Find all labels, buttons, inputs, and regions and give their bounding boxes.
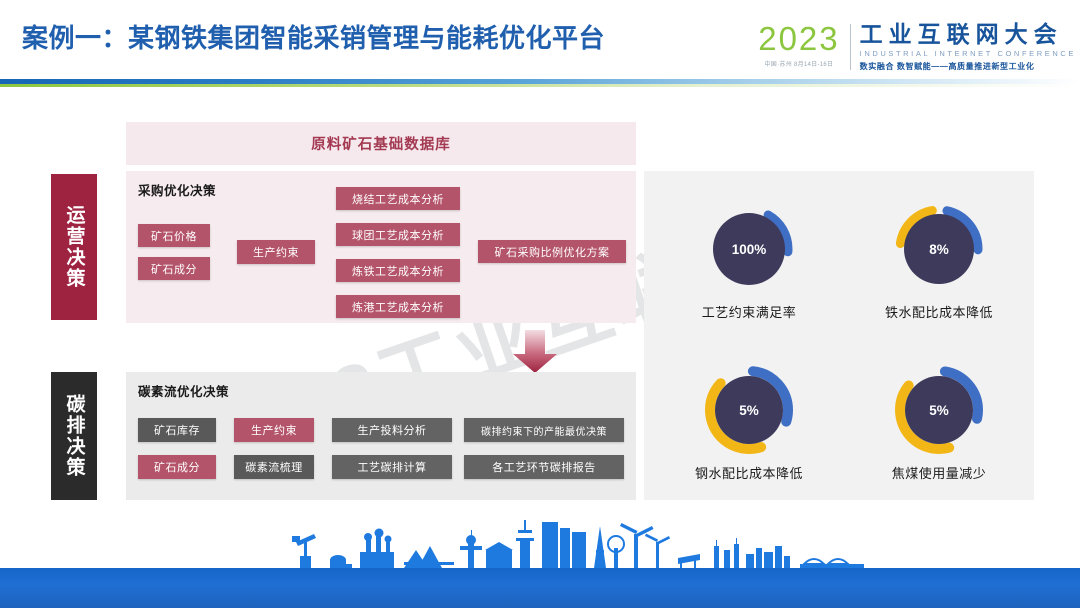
logo-slogan: 数实融合 数智赋能——高质量推进新型工业化 xyxy=(860,61,1076,72)
chip-steelmaking-cost-analysis[interactable]: 炼港工艺成本分析 xyxy=(336,295,460,318)
donut-value-text-3: 5% xyxy=(929,403,949,418)
procurement-optimization-panel: 采购优化决策 矿石价格 矿石成分 生产约束 烧结工艺成本分析 球团工艺成本分析 … xyxy=(126,171,636,323)
database-banner: 原料矿石基础数据库 xyxy=(126,122,636,165)
logo-divider xyxy=(850,24,851,70)
logo-text-block: 工业互联网大会 INDUSTRIAL INTERNET CONFERENCE 数… xyxy=(860,22,1076,72)
kpi-label-2: 钢水配比成本降低 xyxy=(664,464,834,483)
chip-process-carbon-report[interactable]: 各工艺环节碳排报告 xyxy=(464,455,624,479)
database-banner-label: 原料矿石基础数据库 xyxy=(311,133,451,154)
slide: 案例一：某钢铁集团智能采销管理与能耗优化平台 2023 中国·苏州 8月14日-… xyxy=(0,0,1080,608)
chip-pellet-cost-analysis[interactable]: 球团工艺成本分析 xyxy=(336,223,460,246)
kpi-card-3: 5% 焦煤使用量减少 xyxy=(854,364,1024,483)
logo-year-block: 2023 中国·苏州 8月14日-16日 xyxy=(758,22,849,68)
sidebar-item-operations[interactable]: 运营决策 xyxy=(51,174,97,320)
page-title: 案例一：某钢铁集团智能采销管理与能耗优化平台 xyxy=(22,18,605,55)
logo-name-en: INDUSTRIAL INTERNET CONFERENCE xyxy=(860,49,1076,58)
chip-ore-composition-carbon[interactable]: 矿石成分 xyxy=(138,455,216,479)
panel-title-carbon: 碳素流优化决策 xyxy=(138,381,229,400)
kpi-card-0: 100% 工艺约束满足率 xyxy=(664,203,834,322)
chip-ore-price[interactable]: 矿石价格 xyxy=(138,224,210,247)
donut-chart-0: 100% xyxy=(703,203,795,295)
chip-feedstock-analysis[interactable]: 生产投料分析 xyxy=(332,418,452,442)
donut-value-3: 5% xyxy=(893,364,985,456)
footer-blue-band xyxy=(0,568,1080,608)
conference-logo: 2023 中国·苏州 8月14日-16日 工业互联网大会 INDUSTRIAL … xyxy=(758,22,1076,80)
header-green-rule xyxy=(0,84,1080,87)
donut-value-1: 8% xyxy=(893,203,985,295)
logo-year: 2023 xyxy=(758,22,839,56)
chip-production-constraint-carbon[interactable]: 生产约束 xyxy=(234,418,314,442)
slide-header: 案例一：某钢铁集团智能采销管理与能耗优化平台 2023 中国·苏州 8月14日-… xyxy=(0,0,1080,92)
kpi-label-1: 铁水配比成本降低 xyxy=(854,303,1024,322)
donut-value-0: 100% xyxy=(703,203,795,295)
donut-value-text-1: 8% xyxy=(929,242,949,257)
kpi-card-1: 8% 铁水配比成本降低 xyxy=(854,203,1024,322)
donut-value-text-2: 5% xyxy=(739,403,759,418)
logo-name-cn: 工业互联网大会 xyxy=(860,22,1076,47)
chip-ore-composition[interactable]: 矿石成分 xyxy=(138,257,210,280)
panel-title-procurement: 采购优化决策 xyxy=(138,180,216,199)
carbon-flow-optimization-panel: 碳素流优化决策 矿石库存 矿石成分 生产约束 碳素流梳理 生产投料分析 工艺碳排… xyxy=(126,372,636,500)
donut-chart-1: 8% xyxy=(893,203,985,295)
kpi-label-0: 工艺约束满足率 xyxy=(664,303,834,322)
chip-ore-inventory[interactable]: 矿石库存 xyxy=(138,418,216,442)
industrial-city-skyline-icon xyxy=(0,516,1080,572)
chip-ore-procurement-ratio-plan[interactable]: 矿石采购比例优化方案 xyxy=(478,240,626,263)
logo-year-subtitle: 中国·苏州 8月14日-16日 xyxy=(758,59,839,68)
slide-footer xyxy=(0,516,1080,608)
kpi-card-2: 5% 钢水配比成本降低 xyxy=(664,364,834,483)
donut-chart-3: 5% xyxy=(893,364,985,456)
kpi-label-3: 焦煤使用量减少 xyxy=(854,464,1024,483)
sidebar-item-carbon[interactable]: 碳排决策 xyxy=(51,372,97,500)
kpi-panel: 100% 工艺约束满足率 8% 铁水配比成本降低 xyxy=(644,171,1034,500)
chip-ironmaking-cost-analysis[interactable]: 炼铁工艺成本分析 xyxy=(336,259,460,282)
chip-capacity-optimal-decision[interactable]: 碳排约束下的产能最优决策 xyxy=(464,418,624,442)
sidebar-item-label-operations: 运营决策 xyxy=(63,205,86,289)
chip-production-constraint[interactable]: 生产约束 xyxy=(237,240,315,264)
chip-process-carbon-calculation[interactable]: 工艺碳排计算 xyxy=(332,455,452,479)
sidebar-item-label-carbon: 碳排决策 xyxy=(63,394,86,478)
donut-value-text-0: 100% xyxy=(732,242,767,257)
donut-chart-2: 5% xyxy=(703,364,795,456)
donut-value-2: 5% xyxy=(703,364,795,456)
chip-carbon-flow-mapping[interactable]: 碳素流梳理 xyxy=(234,455,314,479)
chip-sintering-cost-analysis[interactable]: 烧结工艺成本分析 xyxy=(336,187,460,210)
down-arrow-icon xyxy=(512,330,558,374)
